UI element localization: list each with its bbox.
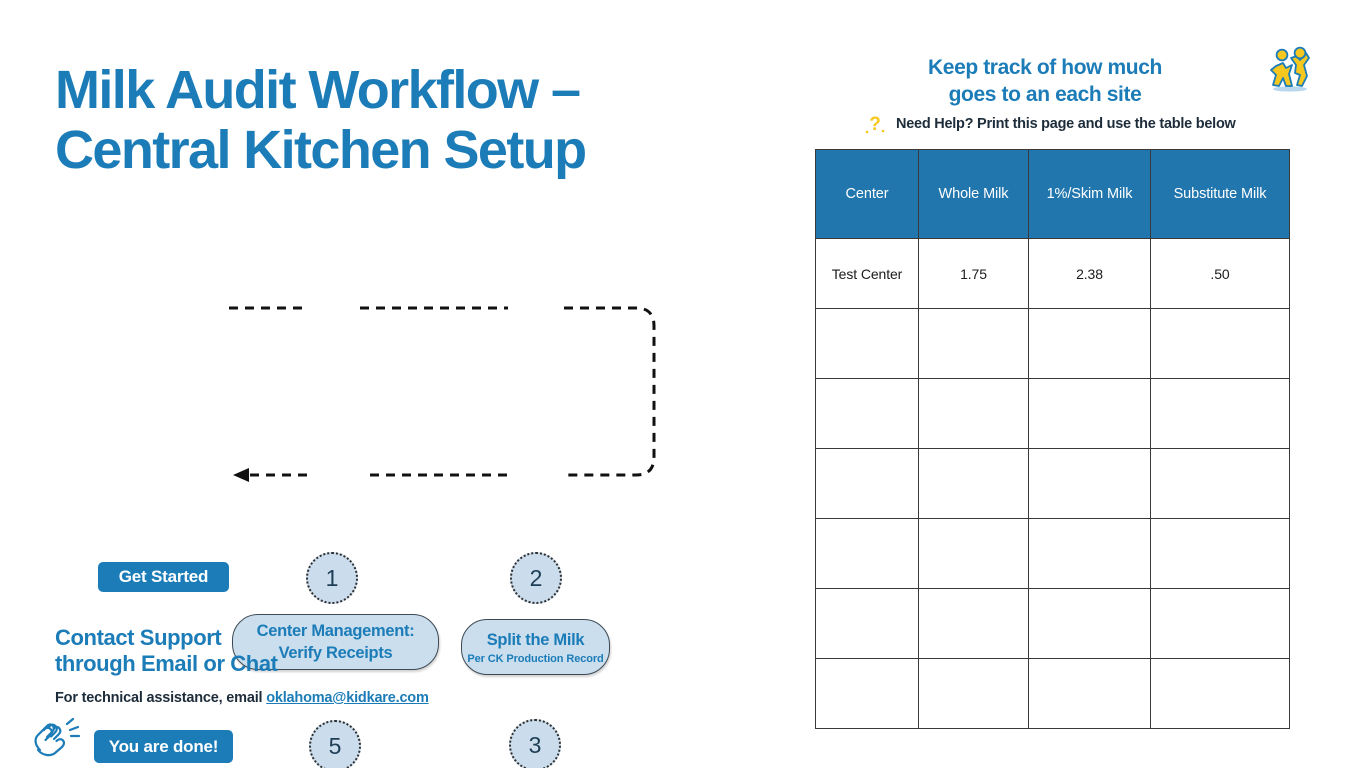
step-box-split-the-milk[interactable]: Split the Milk Per CK Production Record bbox=[461, 619, 610, 675]
step-box-2-title: Split the Milk bbox=[487, 629, 585, 651]
table-cell[interactable] bbox=[1151, 309, 1290, 379]
table-cell[interactable] bbox=[1151, 449, 1290, 519]
column-header-skim-milk: 1%/Skim Milk bbox=[1029, 150, 1151, 239]
left-panel: Milk Audit Workflow – Central Kitchen Se… bbox=[0, 0, 760, 768]
table-cell[interactable]: 2.38 bbox=[1029, 239, 1151, 309]
table-cell[interactable] bbox=[816, 449, 919, 519]
table-cell[interactable] bbox=[816, 379, 919, 449]
table-header-row: Center Whole Milk 1%/Skim Milk Substitut… bbox=[816, 150, 1290, 239]
page-title: Milk Audit Workflow – Central Kitchen Se… bbox=[55, 60, 715, 181]
contact-heading-line-2: through Email or Chat bbox=[55, 651, 278, 677]
table-cell[interactable] bbox=[816, 659, 919, 729]
contact-heading-line-1: Contact Support bbox=[55, 625, 278, 651]
table-cell[interactable] bbox=[919, 309, 1029, 379]
column-header-substitute-milk: Substitute Milk bbox=[1151, 150, 1290, 239]
page-title-line-1: Milk Audit Workflow – bbox=[55, 60, 715, 120]
workflow-flowchart: Get Started You are done! 1 2 3 5 Center… bbox=[0, 270, 700, 590]
contact-support-heading: Contact Support through Email or Chat bbox=[55, 625, 278, 677]
table-cell[interactable] bbox=[919, 659, 1029, 729]
table-cell[interactable] bbox=[1151, 659, 1290, 729]
table-cell[interactable] bbox=[919, 519, 1029, 589]
track-heading-line-2: goes to an each site bbox=[860, 81, 1230, 108]
step-number-5: 5 bbox=[309, 720, 361, 768]
contact-support-text: For technical assistance, email oklahoma… bbox=[55, 690, 429, 706]
need-help-row: ? Need Help? Print this page and use the… bbox=[864, 111, 1236, 137]
clapping-hands-icon bbox=[26, 710, 86, 768]
table-cell[interactable] bbox=[1151, 519, 1290, 589]
milk-tracking-table: Center Whole Milk 1%/Skim Milk Substitut… bbox=[815, 149, 1290, 729]
table-cell[interactable] bbox=[1029, 589, 1151, 659]
step-number-2: 2 bbox=[510, 552, 562, 604]
track-heading-line-1: Keep track of how much bbox=[860, 54, 1230, 81]
need-help-text: Need Help? Print this page and use the t… bbox=[896, 116, 1236, 132]
table-row bbox=[816, 589, 1290, 659]
get-started-button[interactable]: Get Started bbox=[98, 562, 229, 592]
page-title-line-2: Central Kitchen Setup bbox=[55, 120, 715, 180]
table-cell[interactable] bbox=[1029, 519, 1151, 589]
table-row bbox=[816, 379, 1290, 449]
table-cell[interactable] bbox=[919, 449, 1029, 519]
table-cell[interactable] bbox=[919, 589, 1029, 659]
right-panel: Keep track of how much goes to an each s… bbox=[760, 0, 1366, 768]
question-mark-icon: ? bbox=[864, 111, 886, 137]
track-usage-heading: Keep track of how much goes to an each s… bbox=[860, 54, 1230, 109]
table-row bbox=[816, 659, 1290, 729]
table-cell[interactable] bbox=[1029, 659, 1151, 729]
flow-connectors bbox=[0, 270, 700, 590]
table-cell[interactable] bbox=[1029, 449, 1151, 519]
step-box-1-title-line-1: Center Management: bbox=[257, 620, 415, 642]
step-box-1-title-line-2: Verify Receipts bbox=[279, 642, 393, 664]
poster-page: Milk Audit Workflow – Central Kitchen Se… bbox=[0, 0, 1366, 768]
contact-text-prefix: For technical assistance, email bbox=[55, 690, 266, 706]
column-header-whole-milk: Whole Milk bbox=[919, 150, 1029, 239]
step-number-3: 3 bbox=[509, 719, 561, 768]
two-people-celebrate-icon bbox=[1264, 44, 1316, 94]
table-cell[interactable]: .50 bbox=[1151, 239, 1290, 309]
table-row bbox=[816, 519, 1290, 589]
column-header-center: Center bbox=[816, 150, 919, 239]
table-cell[interactable] bbox=[1029, 379, 1151, 449]
table-cell[interactable] bbox=[1151, 589, 1290, 659]
step-number-1: 1 bbox=[306, 552, 358, 604]
table-row bbox=[816, 449, 1290, 519]
table-cell[interactable] bbox=[1029, 309, 1151, 379]
table-cell[interactable]: Test Center bbox=[816, 239, 919, 309]
you-are-done-button[interactable]: You are done! bbox=[94, 730, 233, 763]
table-cell[interactable]: 1.75 bbox=[919, 239, 1029, 309]
table-cell[interactable] bbox=[919, 379, 1029, 449]
support-email-link[interactable]: oklahoma@kidkare.com bbox=[266, 690, 428, 706]
table-row bbox=[816, 309, 1290, 379]
step-box-2-subtitle: Per CK Production Record bbox=[467, 653, 603, 665]
table-cell[interactable] bbox=[816, 589, 919, 659]
table-cell[interactable] bbox=[1151, 379, 1290, 449]
table-cell[interactable] bbox=[816, 519, 919, 589]
table-body: Test Center1.752.38.50 bbox=[816, 239, 1290, 729]
table-row: Test Center1.752.38.50 bbox=[816, 239, 1290, 309]
table-cell[interactable] bbox=[816, 309, 919, 379]
svg-text:?: ? bbox=[869, 114, 881, 135]
